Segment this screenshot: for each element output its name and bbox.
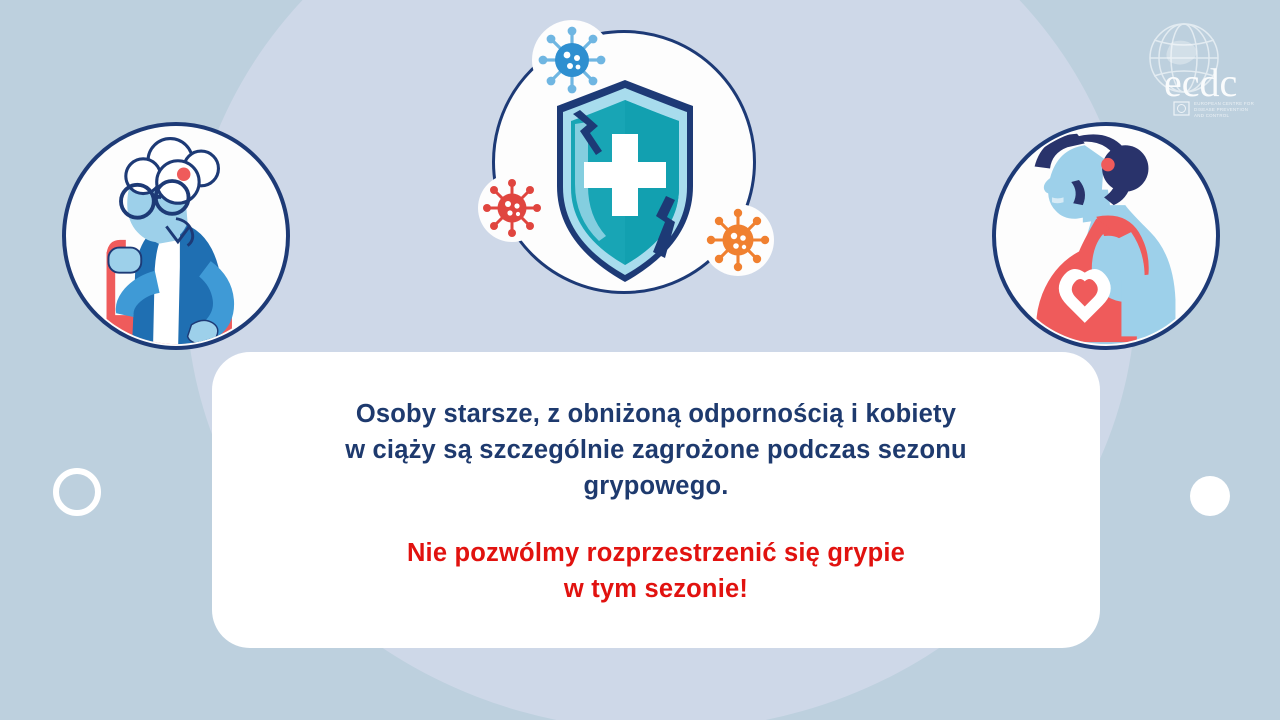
ecdc-tagline-line-2: DISEASE PREVENTION bbox=[1194, 107, 1248, 112]
accent-message: Nie pozwólmy rozprzestrzenić się grypie … bbox=[407, 535, 905, 607]
pregnant-woman-icon bbox=[996, 126, 1216, 346]
accent-message-line-1: Nie pozwólmy rozprzestrzenić się grypie bbox=[407, 535, 905, 571]
virus-red-icon bbox=[483, 179, 541, 237]
illustration-cracked-shield bbox=[470, 18, 780, 318]
poster-canvas: Osoby starsze, z obniżoną odpornością i … bbox=[0, 0, 1280, 720]
accent-message-line-2: w tym sezonie! bbox=[407, 571, 905, 607]
ecdc-tagline-line-1: EUROPEAN CENTRE FOR bbox=[1194, 101, 1254, 106]
ecdc-tagline-line-3: AND CONTROL bbox=[1194, 113, 1230, 118]
primary-message: Osoby starsze, z obniżoną odpornością i … bbox=[345, 396, 967, 505]
decorative-ring-icon bbox=[53, 468, 101, 516]
primary-message-line-1: Osoby starsze, z obniżoną odpornością i … bbox=[345, 396, 967, 432]
ecdc-logo: ecdc EUROPEAN CENTRE FOR DISEASE PREVENT… bbox=[1136, 18, 1268, 122]
illustration-pregnant-woman bbox=[992, 122, 1220, 350]
virus-orange-icon bbox=[707, 209, 769, 271]
ecdc-logo-icon: ecdc EUROPEAN CENTRE FOR DISEASE PREVENT… bbox=[1136, 18, 1268, 122]
illustration-elderly-person bbox=[62, 122, 290, 350]
primary-message-line-3: grypowego. bbox=[345, 468, 967, 504]
ecdc-wordmark: ecdc bbox=[1164, 60, 1237, 105]
virus-blue-icon bbox=[539, 27, 606, 94]
decorative-dot-icon bbox=[1190, 476, 1230, 516]
message-card: Osoby starsze, z obniżoną odpornością i … bbox=[212, 352, 1100, 648]
elderly-person-icon bbox=[66, 126, 286, 346]
primary-message-line-2: w ciąży są szczególnie zagrożone podczas… bbox=[345, 432, 967, 468]
shield-with-viruses-icon bbox=[470, 18, 780, 318]
